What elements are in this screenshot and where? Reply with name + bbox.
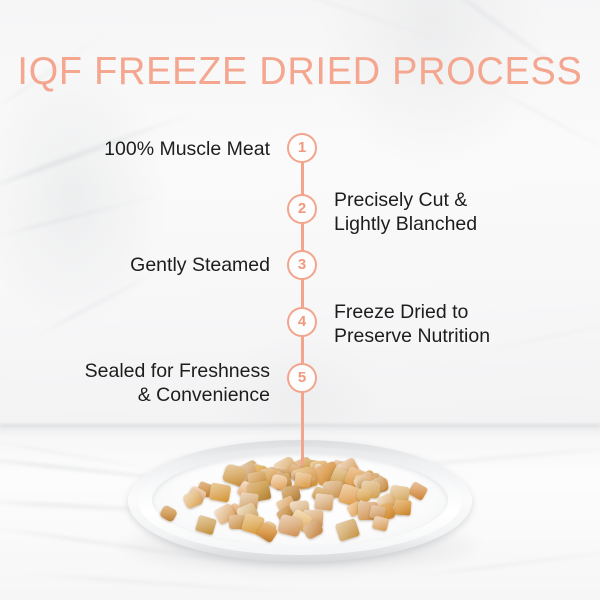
meat-cube: [393, 499, 411, 515]
marble-vein: [482, 310, 600, 352]
timeline-node-1[interactable]: 1: [287, 133, 317, 163]
meat-cube: [334, 518, 359, 542]
step-label-4: Freeze Dried to Preserve Nutrition: [334, 300, 490, 348]
step-label-3: Gently Steamed: [130, 253, 270, 277]
meat-cube: [315, 493, 335, 511]
marble-vein: [0, 192, 168, 241]
step-label-2: Precisely Cut & Lightly Blanched: [334, 188, 477, 236]
counter-wall-seam: [0, 424, 600, 430]
page-title: IQF FREEZE DRIED PROCESS: [9, 50, 591, 94]
marble-vein: [254, 0, 445, 43]
timeline-node-3[interactable]: 3: [287, 250, 317, 280]
infographic-canvas: IQF FREEZE DRIED PROCESS 1 2 3 4 5 100% …: [0, 0, 600, 600]
meat-cube: [408, 481, 429, 501]
freeze-dried-meat-pile: [150, 440, 450, 560]
timeline-node-5[interactable]: 5: [287, 363, 317, 393]
step-label-5: Sealed for Freshness & Convenience: [85, 359, 270, 407]
step-label-1: 100% Muscle Meat: [104, 137, 270, 161]
timeline-node-4[interactable]: 4: [287, 307, 317, 337]
meat-cube: [371, 515, 389, 531]
meat-cube: [208, 483, 230, 504]
meat-cube: [195, 515, 217, 535]
meat-cube: [158, 504, 178, 523]
meat-cube: [277, 513, 303, 537]
timeline-node-2[interactable]: 2: [287, 194, 317, 224]
timeline-connector-line: [301, 140, 304, 465]
